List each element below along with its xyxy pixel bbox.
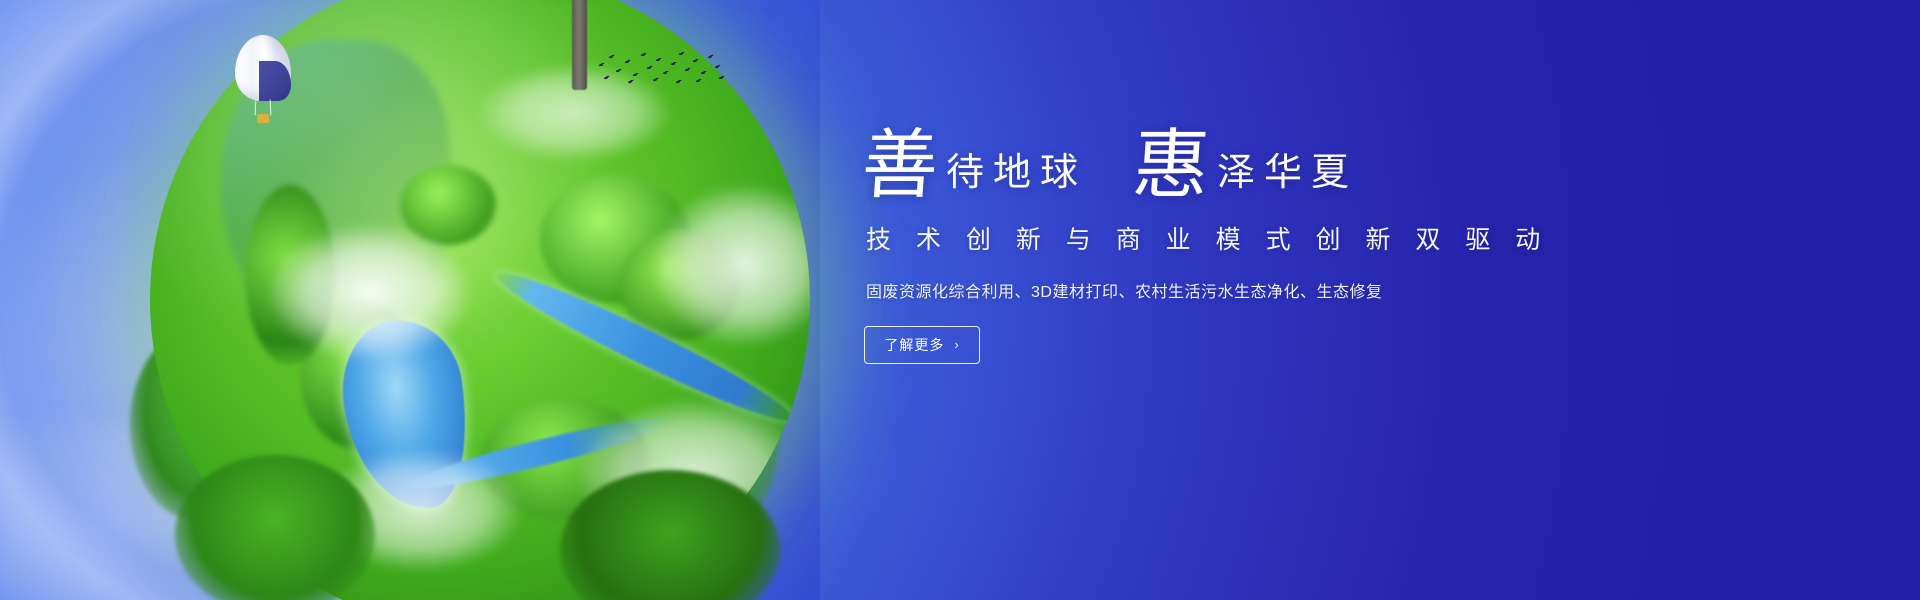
hero-copy: 善 待地球 惠 泽华夏 技 术 创 新 与 商 业 模 式 创 新 双 驱 动 …: [862, 128, 1562, 364]
headline-second-rest: 泽华夏: [1217, 154, 1358, 192]
balloon-basket: [257, 114, 269, 123]
balloon-stripe: [259, 61, 291, 101]
headline-second-char: 惠: [1130, 128, 1211, 204]
learn-more-button[interactable]: 了解更多 ›: [864, 326, 980, 364]
page-subtitle: 技 术 创 新 与 商 业 模 式 创 新 双 驱 动: [866, 220, 1562, 256]
headline-lead-char: 善: [859, 128, 940, 204]
headline-lead-rest: 待地球: [946, 154, 1087, 192]
chevron-right-icon: ›: [954, 338, 959, 351]
bird-flock-icon: [595, 50, 725, 90]
hot-air-balloon-icon: [235, 35, 291, 127]
tree-trunk: [572, 0, 587, 90]
balloon-ropes: [255, 99, 272, 115]
hero-banner: 善 待地球 惠 泽华夏 技 术 创 新 与 商 业 模 式 创 新 双 驱 动 …: [0, 0, 1920, 600]
page-description: 固废资源化综合利用、3D建材打印、农村生活污水生态净化、生态修复: [866, 278, 1562, 302]
learn-more-label: 了解更多: [884, 335, 944, 355]
cloud-icon: [270, 225, 470, 360]
page-title: 善 待地球 惠 泽华夏: [862, 128, 1562, 204]
